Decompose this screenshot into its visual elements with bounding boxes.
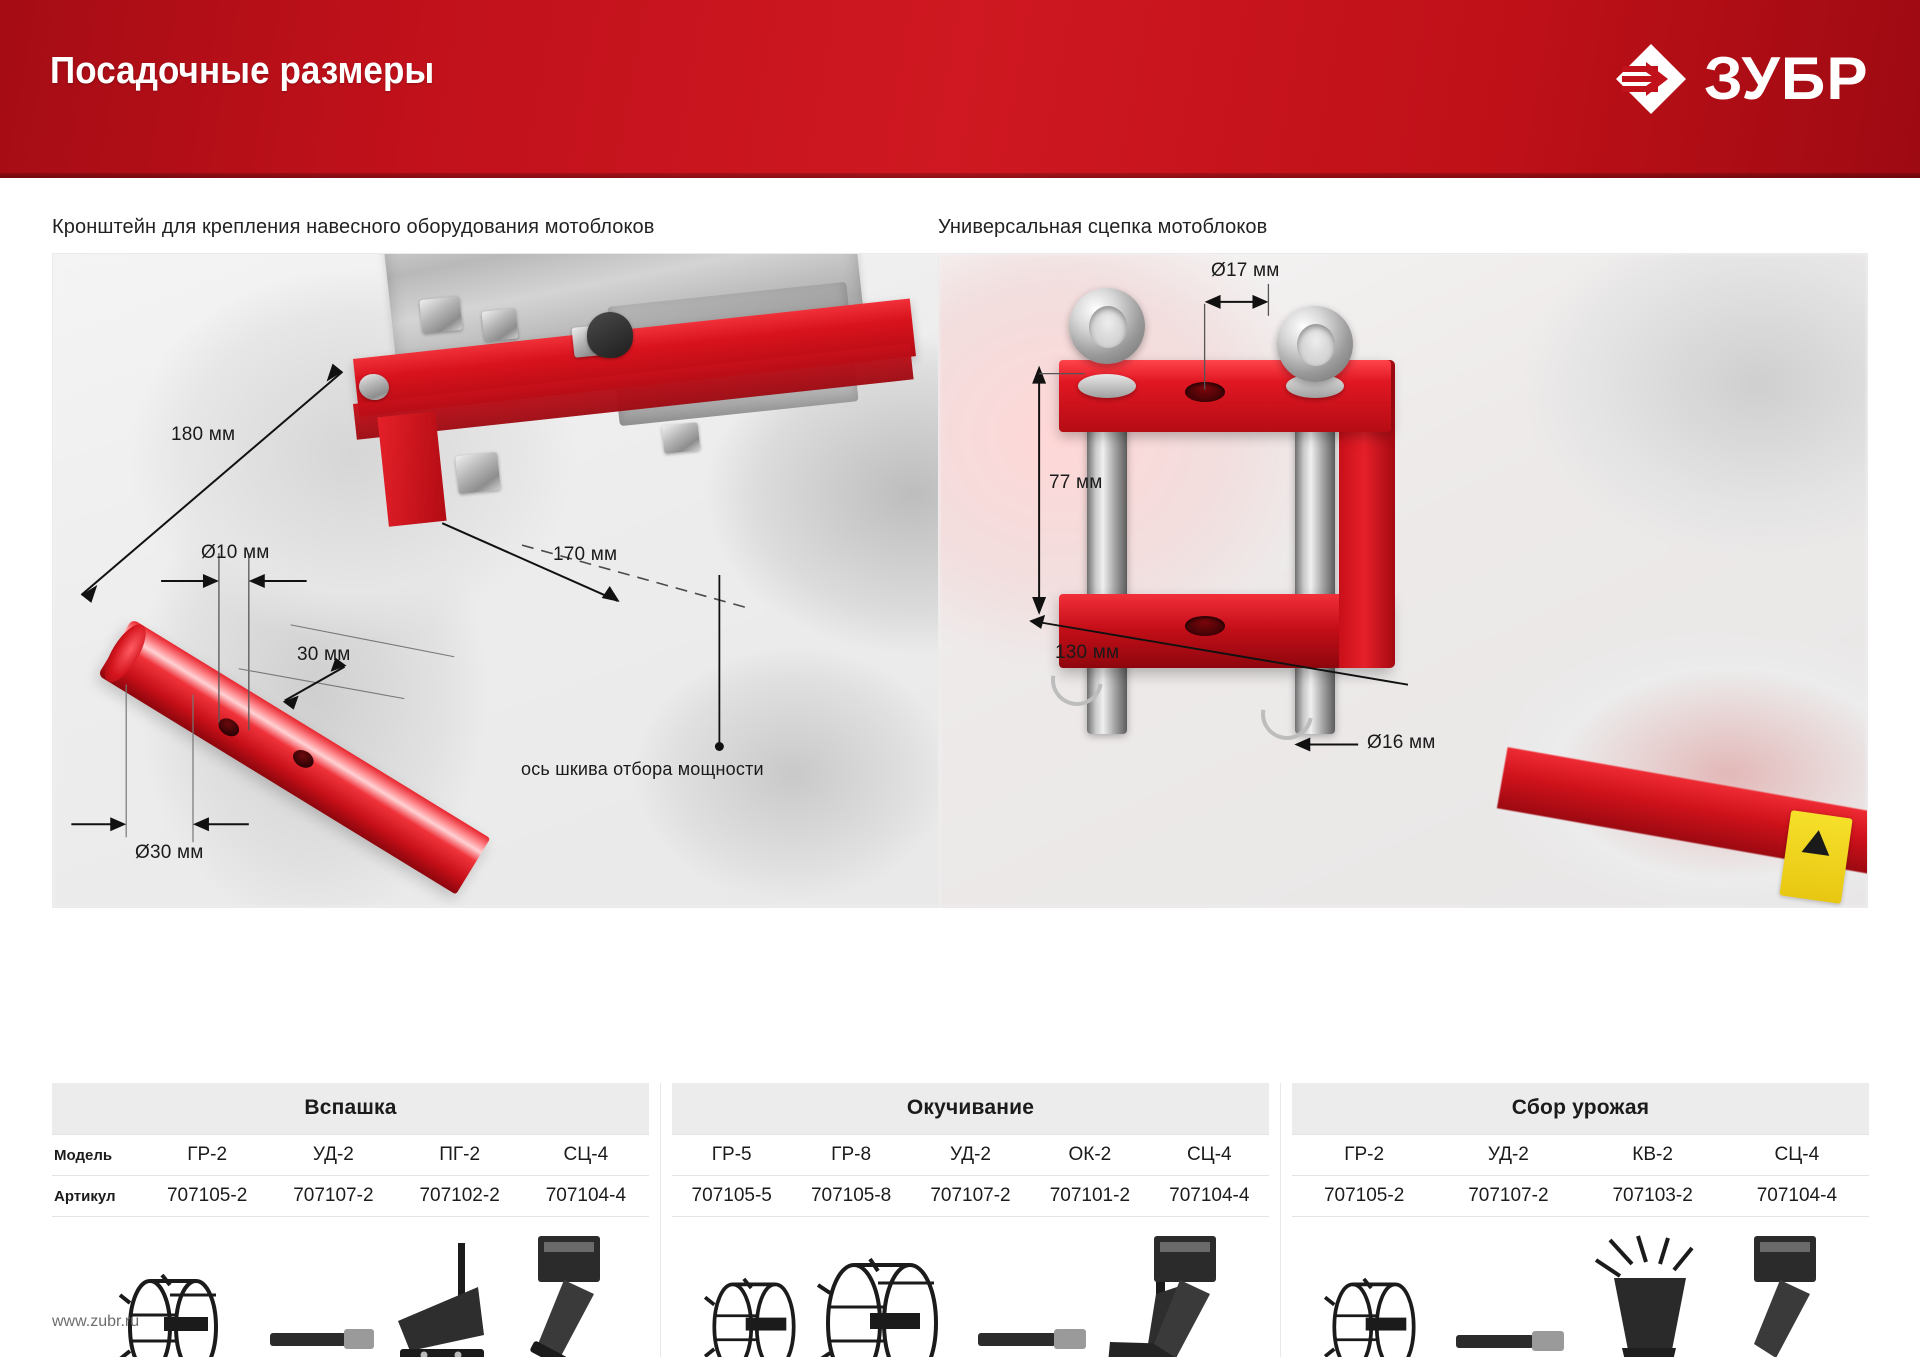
page-header: Посадочные размеры ЗУБР bbox=[0, 0, 1920, 178]
bolt-2 bbox=[482, 308, 519, 341]
dim-d17mm: Ø17 мм bbox=[1211, 260, 1280, 282]
dim-170mm: 170 мм bbox=[553, 544, 617, 566]
bolt-5 bbox=[662, 422, 701, 454]
footer-website-url: www.zubr.ru bbox=[52, 1313, 139, 1331]
table-title-3: Сбор урожая bbox=[1292, 1083, 1869, 1134]
cell-model-4: СЦ-4 bbox=[1150, 1135, 1269, 1176]
warning-triangle-icon bbox=[1802, 828, 1833, 856]
zubr-diamond-arrow-icon bbox=[1614, 42, 1688, 116]
cell-model-3: ОК-2 bbox=[1030, 1135, 1149, 1176]
brand-logo: ЗУБР bbox=[1614, 42, 1864, 116]
tube-hole-1 bbox=[215, 715, 242, 740]
cell-model-2: УД-2 bbox=[911, 1135, 1030, 1176]
spec-table-3: ГР-2 УД-2 КВ-2 СЦ-4 707105-2 707107-2 70… bbox=[1292, 1134, 1869, 1217]
cell-model-2: ПГ-2 bbox=[397, 1135, 523, 1176]
hitch-bottom-hole bbox=[1185, 616, 1225, 636]
cell-model-3: СЦ-4 bbox=[1725, 1135, 1869, 1176]
washer-left bbox=[1078, 374, 1136, 398]
row-label-model: Модель bbox=[52, 1135, 144, 1176]
table-row: Модель ГР-2 УД-2 ПГ-2 СЦ-4 bbox=[52, 1135, 649, 1176]
table-row: ГР-2 УД-2 КВ-2 СЦ-4 bbox=[1292, 1135, 1869, 1176]
cell-article-4: 707104-4 bbox=[1150, 1176, 1269, 1217]
cell-model-1: УД-2 bbox=[270, 1135, 396, 1176]
cell-model-1: ГР-8 bbox=[791, 1135, 910, 1176]
dim-d10mm: Ø10 мм bbox=[201, 542, 270, 564]
bolt-1 bbox=[419, 296, 462, 334]
table-row: ГР-5 ГР-8 УД-2 ОК-2 СЦ-4 bbox=[672, 1135, 1269, 1176]
panel-hitch-caption: Универсальная сцепка мотоблоков bbox=[938, 216, 1868, 239]
table-row: 707105-2 707107-2 707103-2 707104-4 bbox=[1292, 1176, 1869, 1217]
dim-180mm: 180 мм bbox=[171, 424, 235, 446]
cell-article-0: 707105-2 bbox=[144, 1176, 270, 1217]
cell-article-2: 707103-2 bbox=[1581, 1176, 1725, 1217]
panel-bracket: Кронштейн для крепления навесного оборуд… bbox=[52, 216, 982, 908]
cell-article-1: 707105-8 bbox=[791, 1176, 910, 1217]
cell-article-0: 707105-2 bbox=[1292, 1176, 1436, 1217]
knob bbox=[587, 312, 633, 358]
eye-bolt-left bbox=[1069, 288, 1145, 364]
pto-axis-annotation: ось шкива отбора мощности bbox=[521, 759, 764, 780]
bracket-tab bbox=[377, 411, 446, 526]
cell-model-2: КВ-2 bbox=[1581, 1135, 1725, 1176]
cell-article-3: 707104-4 bbox=[523, 1176, 649, 1217]
hitch-top-hole bbox=[1185, 382, 1225, 402]
bolt-4 bbox=[455, 452, 501, 494]
cell-model-0: ГР-2 bbox=[144, 1135, 270, 1176]
brand-name: ЗУБР bbox=[1704, 42, 1869, 116]
page-content: Кронштейн для крепления навесного оборуд… bbox=[0, 178, 1920, 1357]
hitch-photo: Ø17 мм 77 мм 130 мм Ø16 мм bbox=[938, 253, 1868, 908]
tube-hole-2 bbox=[290, 746, 317, 771]
row-label-article: Артикул bbox=[52, 1176, 144, 1217]
dim-d30mm: Ø30 мм bbox=[135, 842, 204, 864]
page-title: Посадочные размеры bbox=[50, 50, 434, 93]
panel-hitch: Универсальная сцепка мотоблоков bbox=[938, 216, 1868, 908]
warning-sticker bbox=[1779, 810, 1852, 904]
eye-bolt-right bbox=[1277, 306, 1353, 382]
dim-30mm: 30 мм bbox=[297, 644, 351, 666]
spec-table-1: Модель ГР-2 УД-2 ПГ-2 СЦ-4 Артикул 70710… bbox=[52, 1134, 649, 1217]
dim-77mm: 77 мм bbox=[1049, 472, 1103, 494]
cell-article-2: 707107-2 bbox=[911, 1176, 1030, 1217]
table-row: Артикул 707105-2 707107-2 707102-2 70710… bbox=[52, 1176, 649, 1217]
cell-article-0: 707105-5 bbox=[672, 1176, 791, 1217]
table-title-2: Окучивание bbox=[672, 1083, 1269, 1134]
cell-article-3: 707101-2 bbox=[1030, 1176, 1149, 1217]
dim-130mm: 130 мм bbox=[1055, 642, 1119, 664]
cell-model-1: УД-2 bbox=[1436, 1135, 1580, 1176]
table-title-1: Вспашка bbox=[52, 1083, 649, 1134]
panel-bracket-caption: Кронштейн для крепления навесного оборуд… bbox=[52, 216, 982, 239]
cell-model-0: ГР-5 bbox=[672, 1135, 791, 1176]
bracket-photo: 180 мм Ø10 мм 30 мм Ø30 мм 170 мм ось шк… bbox=[52, 253, 982, 908]
cell-model-3: СЦ-4 bbox=[523, 1135, 649, 1176]
cell-article-2: 707102-2 bbox=[397, 1176, 523, 1217]
page-footer: www.zubr.ru bbox=[0, 1297, 1920, 1357]
cell-article-3: 707104-4 bbox=[1725, 1176, 1869, 1217]
cell-model-0: ГР-2 bbox=[1292, 1135, 1436, 1176]
dim-d16mm: Ø16 мм bbox=[1367, 732, 1436, 754]
spec-table-2: ГР-5 ГР-8 УД-2 ОК-2 СЦ-4 707105-5 707105… bbox=[672, 1134, 1269, 1217]
cell-article-1: 707107-2 bbox=[1436, 1176, 1580, 1217]
cell-article-1: 707107-2 bbox=[270, 1176, 396, 1217]
hitch-pin-right bbox=[1295, 404, 1335, 734]
table-row: 707105-5 707105-8 707107-2 707101-2 7071… bbox=[672, 1176, 1269, 1217]
